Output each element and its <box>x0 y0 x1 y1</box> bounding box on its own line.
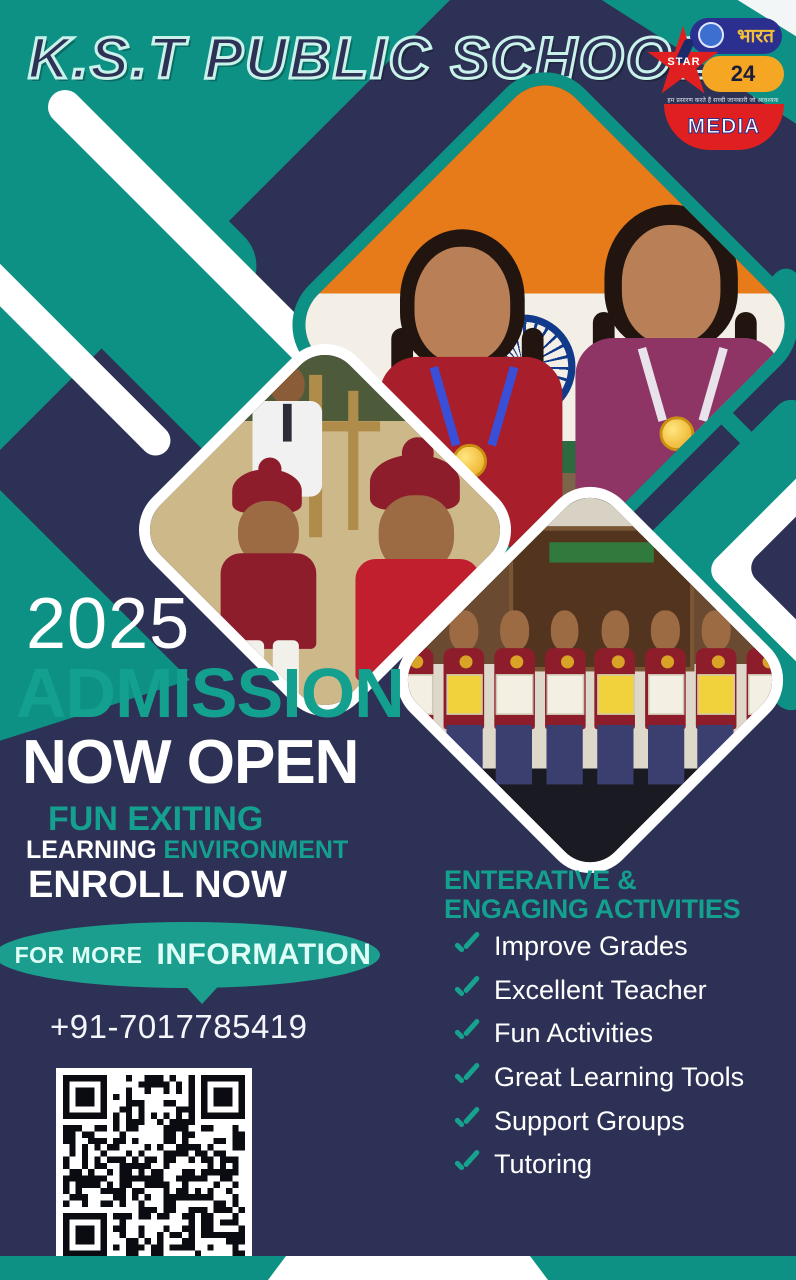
check-icon <box>452 980 482 1002</box>
activity-label: Tutoring <box>494 1150 592 1180</box>
enroll-now-text: ENROLL NOW <box>28 866 287 904</box>
activity-label: Great Learning Tools <box>494 1063 744 1093</box>
activities-list: Improve GradesExcellent TeacherFun Activ… <box>452 932 796 1194</box>
check-icon <box>452 936 482 958</box>
learning-word: LEARNING <box>26 836 157 864</box>
fun-exiting-text: FUN EXITING <box>48 802 263 836</box>
bottom-tab <box>268 1256 548 1280</box>
logo-tagline: हम प्रसारण करते हैं सच्ची जानकारी जो आवश… <box>660 96 786 104</box>
activity-item: Improve Grades <box>452 932 796 962</box>
star-bharat-24-media-logo: भारत 24 STAR हम प्रसारण करते हैं सच्ची ज… <box>646 8 786 148</box>
logo-bharat-text: भारत <box>737 27 774 46</box>
logo-number-bar: 24 <box>702 56 784 92</box>
logo-star-word: STAR <box>654 56 714 68</box>
logo-media-bowl: MEDIA <box>664 104 784 150</box>
admission-poster: K.S.T PUBLIC SCHOOL भारत 24 STAR हम प्रस… <box>0 0 796 1280</box>
environment-word: ENVIRONMENT <box>164 836 349 864</box>
activity-label: Fun Activities <box>494 1019 653 1049</box>
activity-label: Excellent Teacher <box>494 976 707 1006</box>
qr-code[interactable] <box>56 1068 252 1264</box>
activity-label: Improve Grades <box>494 932 688 962</box>
year-heading: 2025 <box>26 588 190 660</box>
activities-heading: ENTERATIVE & ENGAGING ACTIVITIES <box>444 866 784 924</box>
activity-item: Tutoring <box>452 1150 796 1180</box>
check-icon <box>452 1067 482 1089</box>
for-more-label: FOR MORE <box>15 942 143 969</box>
check-icon <box>452 1154 482 1176</box>
check-icon <box>452 1023 482 1045</box>
logo-media-text: MEDIA <box>688 115 761 139</box>
admission-heading: ADMISSION <box>16 658 404 728</box>
logo-number-text: 24 <box>731 63 755 85</box>
activity-item: Excellent Teacher <box>452 976 796 1006</box>
phone-number[interactable]: +91-7017785419 <box>50 1008 308 1046</box>
activity-item: Support Groups <box>452 1107 796 1137</box>
activity-label: Support Groups <box>494 1107 685 1137</box>
information-bubble-text: FOR MORE INFORMATION <box>0 922 386 988</box>
now-open-heading: NOW OPEN <box>22 732 358 794</box>
globe-icon <box>698 22 724 48</box>
activity-item: Fun Activities <box>452 1019 796 1049</box>
information-label: INFORMATION <box>157 938 372 972</box>
check-icon <box>452 1111 482 1133</box>
medal-icon <box>659 416 694 451</box>
activity-item: Great Learning Tools <box>452 1063 796 1093</box>
learning-environment-text: LEARNING ENVIRONMENT <box>26 838 348 863</box>
school-name-title: K.S.T PUBLIC SCHOOL <box>28 30 728 88</box>
